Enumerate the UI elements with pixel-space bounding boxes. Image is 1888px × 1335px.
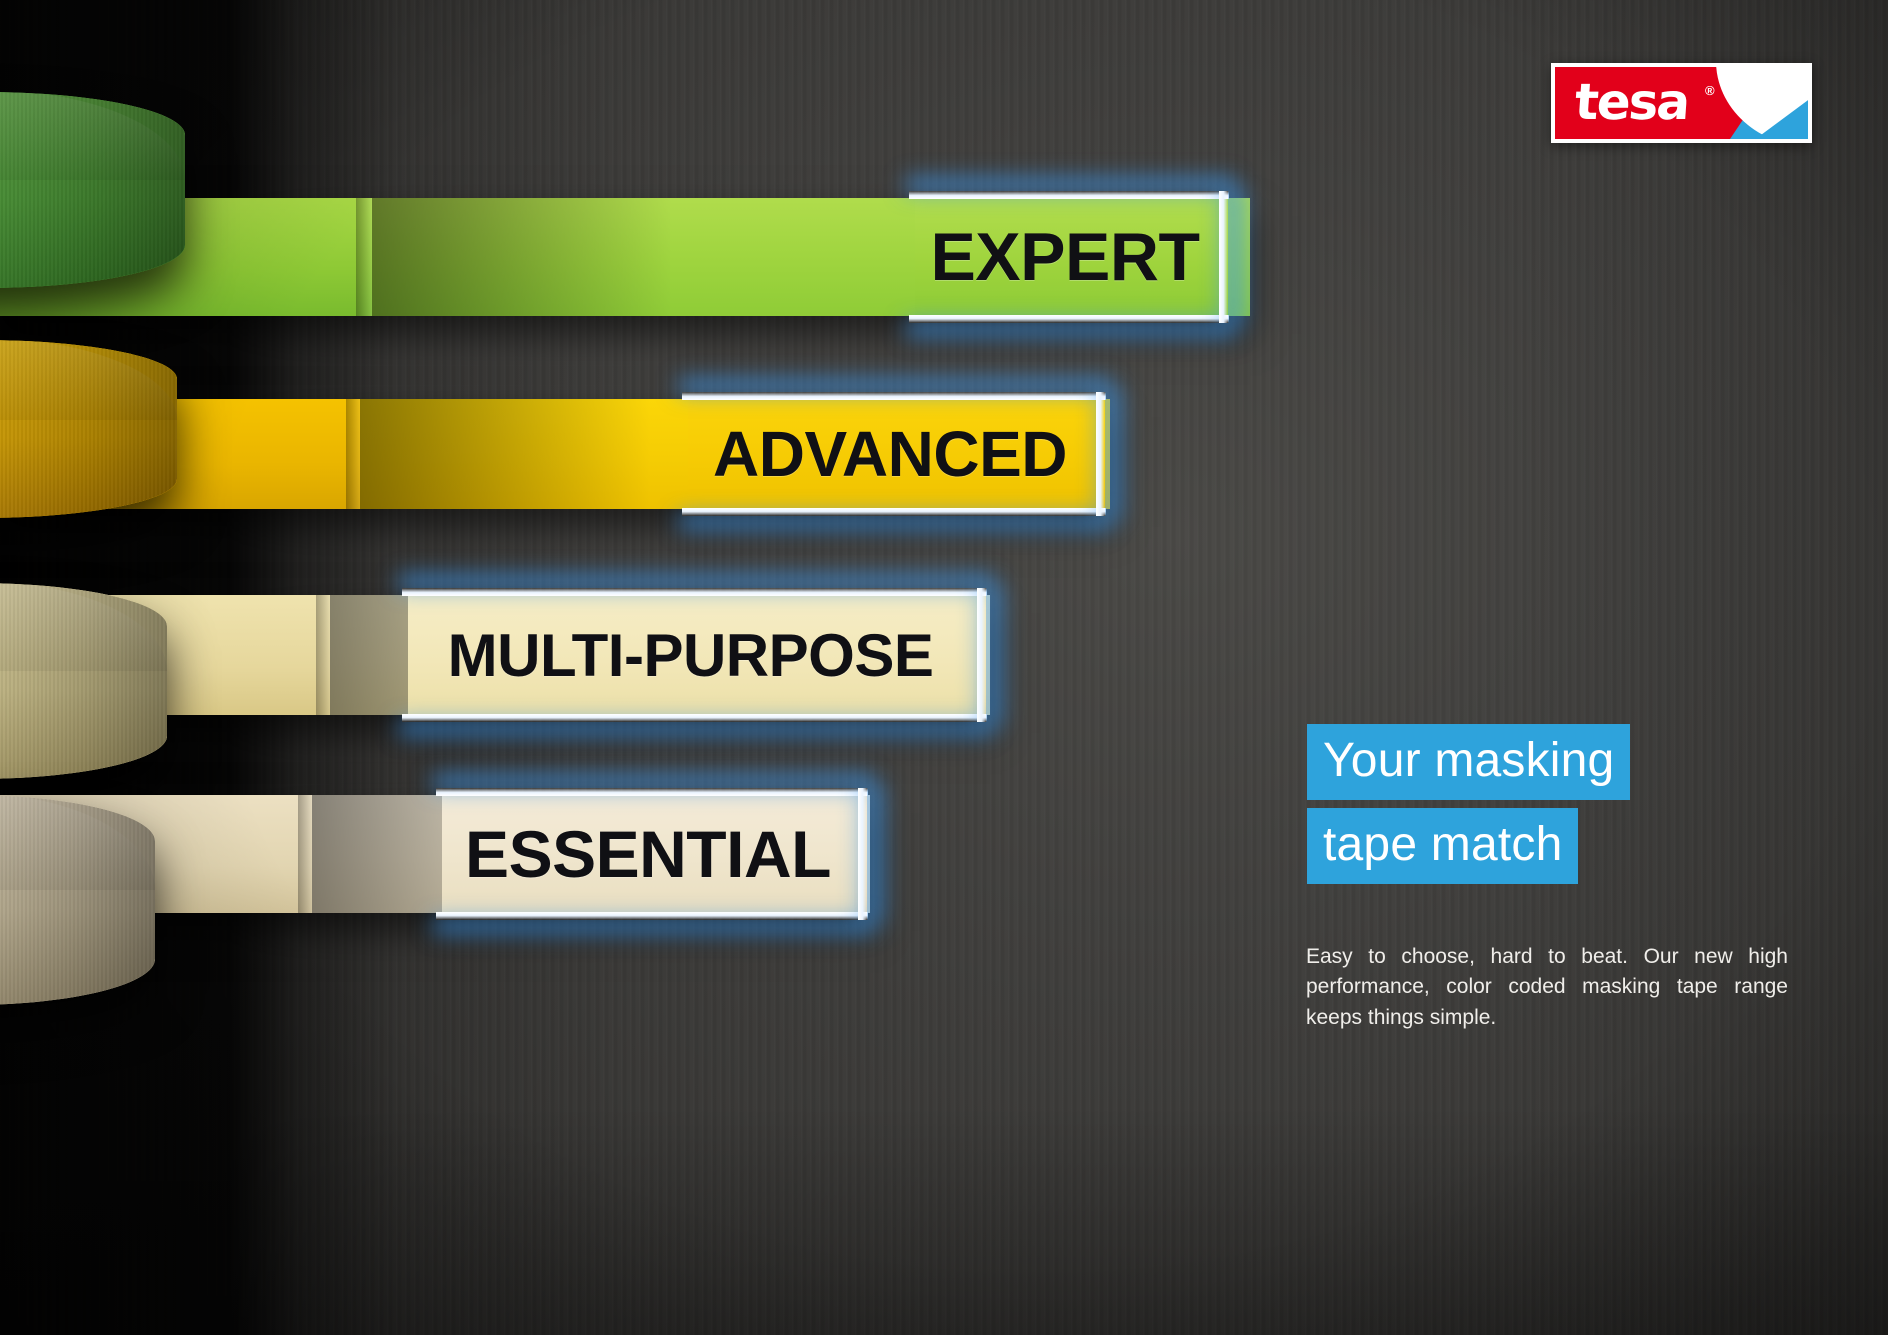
tape-roll-body: [0, 795, 155, 1005]
tape-label-essential: ESSENTIAL: [442, 816, 854, 892]
tape-roll-body: [0, 340, 177, 518]
tape-roll-essential: [0, 795, 155, 1005]
tape-label-plate-essential[interactable]: ESSENTIAL: [442, 795, 854, 913]
tesa-logo-wordmark: tesa: [1573, 77, 1690, 127]
headline-line-2: tape match: [1307, 808, 1578, 884]
registered-trademark-icon: ®: [1705, 83, 1715, 98]
tape-roll-expert: [0, 92, 185, 288]
tesa-logo[interactable]: tesa ®: [1551, 63, 1812, 143]
tesa-logo-inner: tesa ®: [1555, 67, 1808, 139]
tape-roll-body: [0, 583, 167, 779]
advertisement-canvas: EXPERT ADVANCED: [0, 0, 1888, 1335]
tape-roll-body: [0, 92, 185, 288]
body-copy: Easy to choose, hard to beat. Our new hi…: [1306, 942, 1788, 1033]
headline-line-1: Your masking: [1307, 724, 1630, 800]
tape-label-multi-purpose: MULTI-PURPOSE: [408, 621, 973, 690]
headline: Your masking tape match: [1307, 724, 1630, 884]
tape-roll-multi-purpose: [0, 583, 167, 779]
tape-roll-advanced: [0, 340, 177, 518]
tape-label-advanced: ADVANCED: [688, 417, 1092, 491]
tape-label-plate-expert[interactable]: EXPERT: [915, 198, 1215, 316]
tape-label-plate-multi-purpose[interactable]: MULTI-PURPOSE: [408, 595, 973, 715]
tape-label-plate-advanced[interactable]: ADVANCED: [688, 399, 1092, 509]
tape-label-expert: EXPERT: [915, 218, 1215, 296]
